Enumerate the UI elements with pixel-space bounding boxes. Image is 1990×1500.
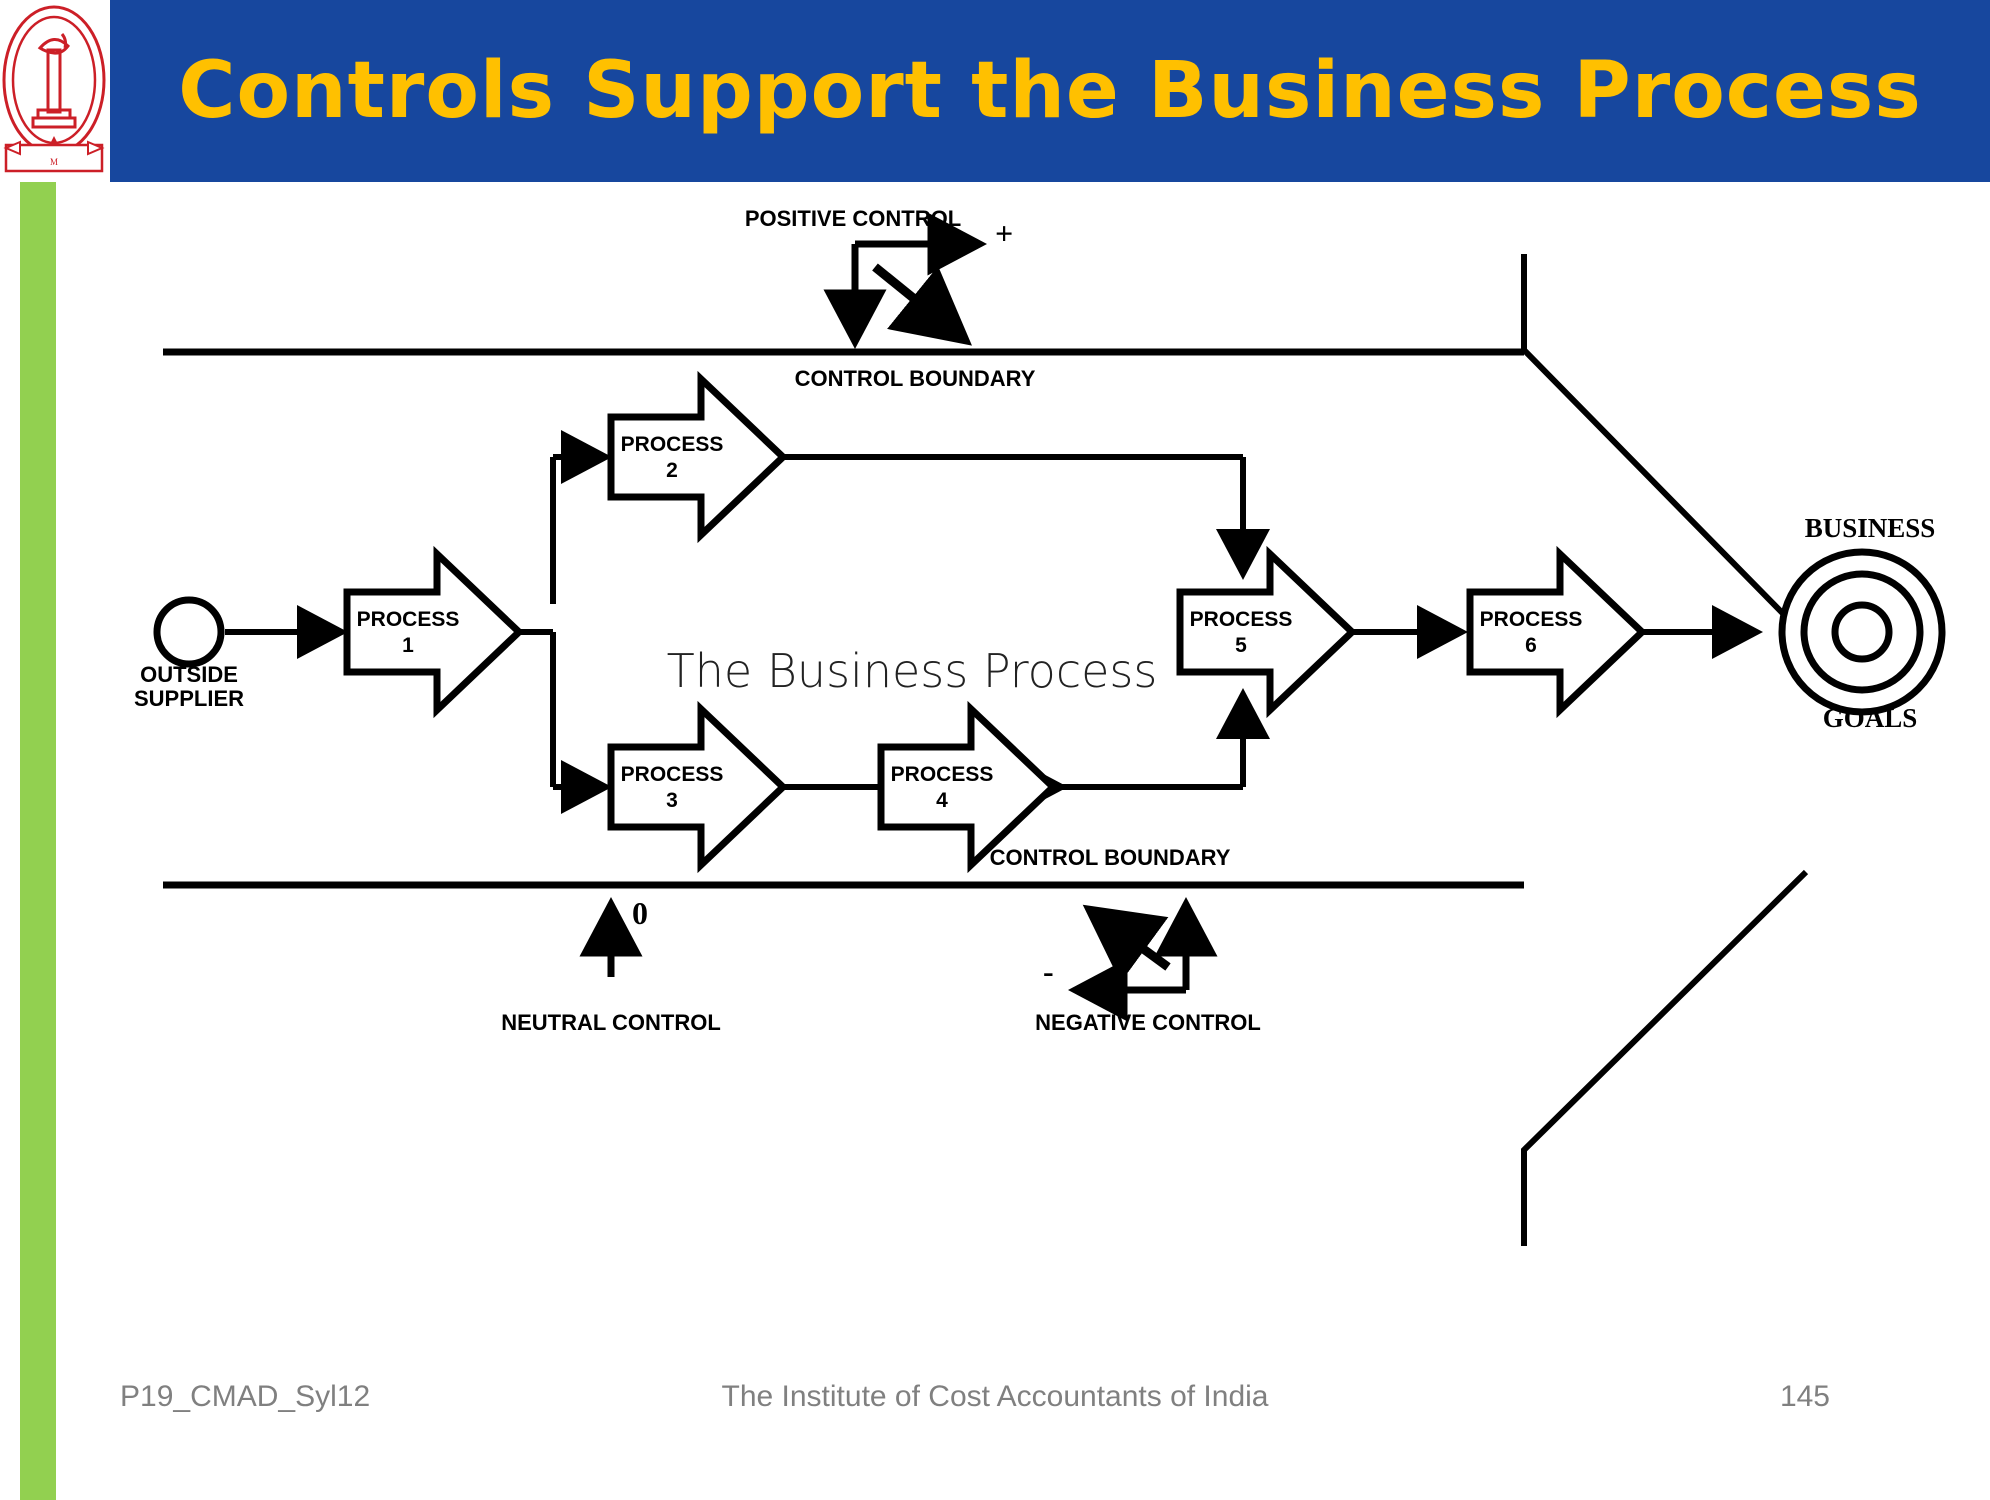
control-boundary-bottom-label: CONTROL BOUNDARY [990,845,1231,870]
process-4-node[interactable]: PROCESS 4 [100,182,1053,865]
page-title: Controls Support the Business Process [110,0,1990,182]
process-1-number: 1 [402,634,414,657]
outside-supplier-node [157,600,221,664]
process-4-number: 4 [936,789,948,812]
positive-control-label: POSITIVE CONTROL [745,206,961,231]
process-1-name: PROCESS [357,608,460,631]
negative-sign: - [1043,953,1054,989]
business-goals-target[interactable] [1782,552,1942,712]
institute-seal-logo: M [0,0,108,182]
positive-sign: + [995,215,1013,251]
process-2-name: PROCESS [621,433,724,456]
process-2-node[interactable]: PROCESS 2 [611,379,783,535]
process-6-number: 6 [1525,634,1537,657]
process-5-node[interactable]: PROCESS 5 [1180,554,1352,710]
outside-supplier-label-line2: SUPPLIER [134,686,244,711]
neutral-control-label: NEUTRAL CONTROL [501,1010,721,1035]
business-process-caption: The Business Process [667,644,1158,698]
process-3-name: PROCESS [621,763,724,786]
positive-control-arrows [855,244,980,342]
process-6-node[interactable]: PROCESS 6 [1470,554,1642,710]
process-3-number: 3 [666,789,678,812]
process-5-number: 5 [1235,634,1247,657]
goals-label: GOALS [1823,703,1918,733]
seal-icon: M [0,0,108,182]
process-3-node[interactable]: PROCESS 3 [611,709,783,865]
process-2-number: 2 [666,459,678,482]
outer-chevron [1524,254,1806,1246]
footer-institute-name: The Institute of Cost Accountants of Ind… [0,1380,1990,1414]
slide-footer: P19_CMAD_Syl12 The Institute of Cost Acc… [0,1380,1990,1450]
process-4-name: PROCESS [891,763,994,786]
process-1-node[interactable]: PROCESS 1 [347,554,519,710]
process-6-name: PROCESS [1480,608,1583,631]
process-5-name: PROCESS [1190,608,1293,631]
footer-page-number: 145 [1780,1380,1830,1414]
neutral-sign: 0 [632,895,648,931]
business-process-diagram: POSITIVE CONTROL + CONTROL BOUNDARY [0,182,1990,1332]
negative-control-arrows [1075,904,1186,990]
negative-control-label: NEGATIVE CONTROL [1035,1010,1261,1035]
business-label: BUSINESS [1805,513,1936,543]
outside-supplier-label-line1: OUTSIDE [140,662,238,687]
control-boundary-top-label: CONTROL BOUNDARY [795,366,1036,391]
svg-text:M: M [50,157,58,167]
